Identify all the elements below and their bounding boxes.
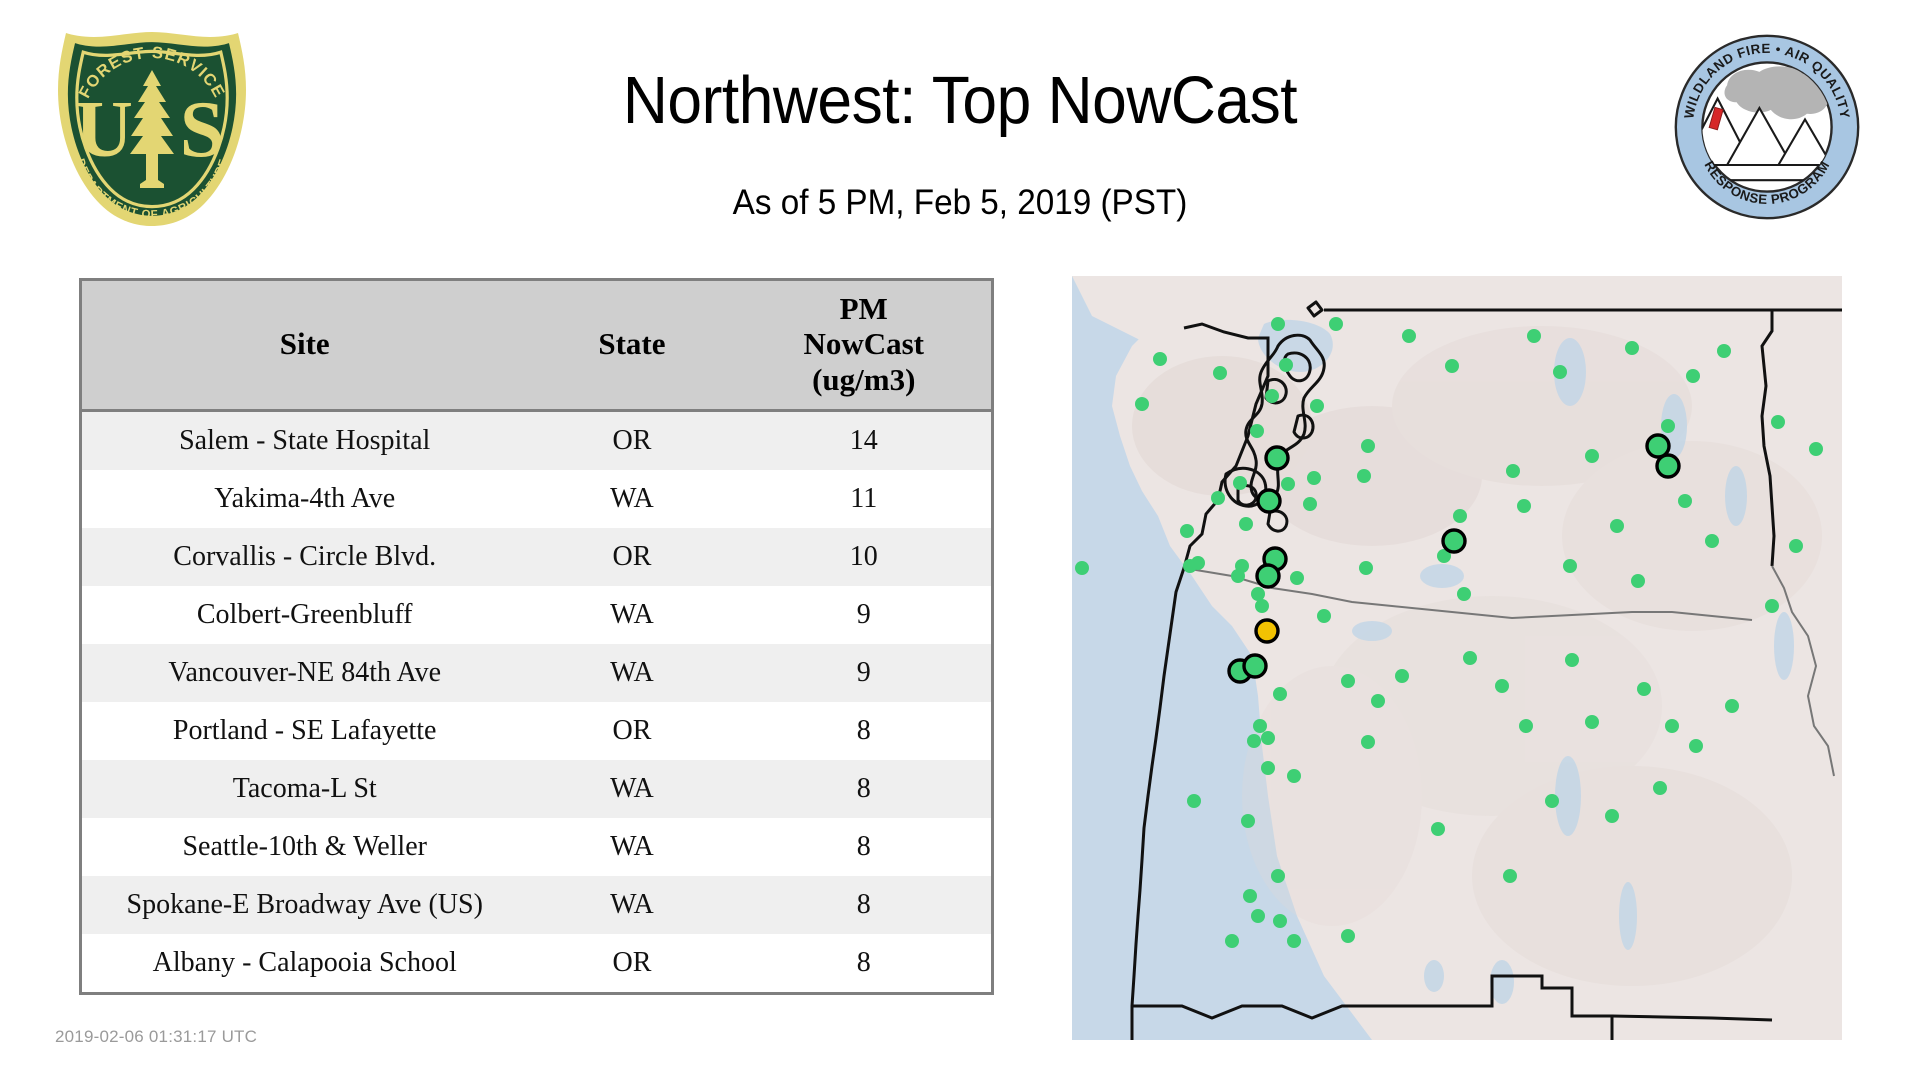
map-marker-monitor[interactable] — [1809, 442, 1823, 456]
pacific-northwest-monitor-map[interactable] — [1072, 276, 1842, 1040]
map-marker-monitor[interactable] — [1519, 719, 1533, 733]
map-marker-monitor[interactable] — [1765, 599, 1779, 613]
map-marker-monitor[interactable] — [1135, 397, 1149, 411]
table-row[interactable]: Seattle-10th & WellerWA8 — [82, 818, 991, 876]
map-marker-monitor[interactable] — [1457, 587, 1471, 601]
map-marker-monitor[interactable] — [1225, 934, 1239, 948]
table-cell-site: Tacoma-L St — [82, 760, 527, 818]
map-marker-monitor[interactable] — [1341, 674, 1355, 688]
map-marker-monitor[interactable] — [1153, 352, 1167, 366]
table-cell-pm-nowcast: 8 — [736, 876, 991, 934]
map-marker-monitor[interactable] — [1251, 587, 1265, 601]
map-marker-monitor[interactable] — [1279, 358, 1293, 372]
table-cell-site: Albany - Calapooia School — [82, 934, 527, 992]
map-marker-monitor[interactable] — [1527, 329, 1541, 343]
map-marker-monitor[interactable] — [1661, 419, 1675, 433]
table-cell-site: Seattle-10th & Weller — [82, 818, 527, 876]
table-cell-state: WA — [527, 876, 736, 934]
map-marker-monitor[interactable] — [1705, 534, 1719, 548]
map-marker-monitor[interactable] — [1271, 317, 1285, 331]
map-marker-monitor[interactable] — [1637, 682, 1651, 696]
table-cell-state: WA — [527, 760, 736, 818]
table-row[interactable]: Corvallis - Circle Blvd.OR10 — [82, 528, 991, 586]
map-marker-monitor[interactable] — [1261, 761, 1275, 775]
table-cell-site: Vancouver-NE 84th Ave — [82, 644, 527, 702]
table-cell-state: OR — [527, 934, 736, 992]
table-cell-pm-nowcast: 11 — [736, 470, 991, 528]
map-marker-monitor[interactable] — [1361, 735, 1375, 749]
map-marker-monitor[interactable] — [1463, 651, 1477, 665]
map-marker-monitor[interactable] — [1717, 344, 1731, 358]
map-marker-monitor[interactable] — [1233, 476, 1247, 490]
table-cell-site: Salem - State Hospital — [82, 410, 527, 470]
map-marker-monitor[interactable] — [1610, 519, 1624, 533]
map-marker-monitor[interactable] — [1213, 366, 1227, 380]
column-header-pm-line2: NowCast — [803, 326, 924, 361]
map-marker-monitor[interactable] — [1303, 497, 1317, 511]
table-cell-state: WA — [527, 644, 736, 702]
map-marker-monitor[interactable] — [1273, 687, 1287, 701]
map-marker-monitor[interactable] — [1653, 781, 1667, 795]
table-cell-pm-nowcast: 8 — [736, 702, 991, 760]
map-marker-monitor[interactable] — [1395, 669, 1409, 683]
map-marker-monitor[interactable] — [1187, 794, 1201, 808]
map-marker-monitor[interactable] — [1261, 731, 1275, 745]
map-marker-monitor[interactable] — [1445, 359, 1459, 373]
table-row[interactable]: Tacoma-L StWA8 — [82, 760, 991, 818]
map-marker-monitor[interactable] — [1771, 415, 1785, 429]
map-marker-monitor[interactable] — [1191, 556, 1205, 570]
map-marker-monitor[interactable] — [1243, 889, 1257, 903]
map-marker-monitor[interactable] — [1371, 694, 1385, 708]
map-marker-top-site[interactable] — [1256, 620, 1278, 642]
column-header-site[interactable]: Site — [82, 281, 527, 410]
map-marker-monitor[interactable] — [1625, 341, 1639, 355]
map-marker-monitor[interactable] — [1789, 539, 1803, 553]
table-cell-state: OR — [527, 528, 736, 586]
table-cell-site: Corvallis - Circle Blvd. — [82, 528, 527, 586]
map-marker-monitor[interactable] — [1310, 399, 1324, 413]
table-row[interactable]: Colbert-GreenbluffWA9 — [82, 586, 991, 644]
map-marker-monitor[interactable] — [1329, 317, 1343, 331]
table-cell-state: OR — [527, 410, 736, 470]
map-marker-monitor[interactable] — [1402, 329, 1416, 343]
map-marker-monitor[interactable] — [1273, 914, 1287, 928]
map-marker-top-site[interactable] — [1266, 447, 1288, 469]
top-nowcast-table: Site State PM NowCast (ug/m3) Salem - St… — [79, 278, 994, 995]
map-marker-monitor[interactable] — [1287, 769, 1301, 783]
map-marker-monitor[interactable] — [1075, 561, 1089, 575]
map-marker-monitor[interactable] — [1503, 869, 1517, 883]
map-marker-monitor[interactable] — [1506, 464, 1520, 478]
map-marker-monitor[interactable] — [1359, 561, 1373, 575]
map-marker-monitor[interactable] — [1251, 909, 1265, 923]
map-marker-monitor[interactable] — [1265, 389, 1279, 403]
map-marker-monitor[interactable] — [1495, 679, 1509, 693]
column-header-pm-line3: (ug/m3) — [812, 362, 915, 397]
map-marker-top-site[interactable] — [1244, 655, 1266, 677]
table-row[interactable]: Spokane-E Broadway Ave (US)WA8 — [82, 876, 991, 934]
map-marker-monitor[interactable] — [1585, 449, 1599, 463]
map-marker-monitor[interactable] — [1605, 809, 1619, 823]
map-marker-monitor[interactable] — [1255, 599, 1269, 613]
map-marker-monitor[interactable] — [1517, 499, 1531, 513]
map-marker-monitor[interactable] — [1307, 471, 1321, 485]
map-marker-monitor[interactable] — [1725, 699, 1739, 713]
table-cell-site: Yakima-4th Ave — [82, 470, 527, 528]
page-title: Northwest: Top NowCast — [67, 62, 1853, 139]
map-marker-monitor[interactable] — [1287, 934, 1301, 948]
map-marker-monitor[interactable] — [1553, 365, 1567, 379]
map-marker-monitor[interactable] — [1686, 369, 1700, 383]
map-marker-monitor[interactable] — [1317, 609, 1331, 623]
column-header-pm-line1: PM — [840, 291, 888, 326]
table-cell-site: Colbert-Greenbluff — [82, 586, 527, 644]
table-cell-pm-nowcast: 14 — [736, 410, 991, 470]
map-marker-monitor[interactable] — [1281, 477, 1295, 491]
map-marker-monitor[interactable] — [1341, 929, 1355, 943]
map-marker-monitor[interactable] — [1678, 494, 1692, 508]
map-marker-monitor[interactable] — [1585, 715, 1599, 729]
table-cell-state: WA — [527, 470, 736, 528]
map-marker-monitor[interactable] — [1180, 524, 1194, 538]
map-marker-monitor[interactable] — [1453, 509, 1467, 523]
map-marker-monitor[interactable] — [1231, 569, 1245, 583]
map-marker-monitor[interactable] — [1361, 439, 1375, 453]
table-header-row: Site State PM NowCast (ug/m3) — [82, 281, 991, 410]
table-cell-pm-nowcast: 9 — [736, 644, 991, 702]
map-marker-top-site[interactable] — [1258, 490, 1280, 512]
map-marker-monitor[interactable] — [1631, 574, 1645, 588]
table-cell-site: Portland - SE Lafayette — [82, 702, 527, 760]
table-cell-state: OR — [527, 702, 736, 760]
map-marker-top-site[interactable] — [1257, 565, 1279, 587]
table-cell-state: WA — [527, 818, 736, 876]
map-marker-top-site[interactable] — [1443, 530, 1465, 552]
table-cell-pm-nowcast: 8 — [736, 818, 991, 876]
map-marker-monitor[interactable] — [1689, 739, 1703, 753]
table-row[interactable]: Salem - State HospitalOR14 — [82, 410, 991, 470]
map-marker-monitor[interactable] — [1290, 571, 1304, 585]
table-row[interactable]: Vancouver-NE 84th AveWA9 — [82, 644, 991, 702]
map-marker-monitor[interactable] — [1253, 719, 1267, 733]
table-row[interactable]: Portland - SE LafayetteOR8 — [82, 702, 991, 760]
map-marker-monitor[interactable] — [1250, 424, 1264, 438]
map-marker-monitor[interactable] — [1565, 653, 1579, 667]
column-header-state[interactable]: State — [527, 281, 736, 410]
table-cell-pm-nowcast: 8 — [736, 760, 991, 818]
table-cell-pm-nowcast: 8 — [736, 934, 991, 992]
map-marker-monitor[interactable] — [1271, 869, 1285, 883]
footer-timestamp: 2019-02-06 01:31:17 UTC — [55, 1027, 257, 1047]
map-marker-monitor[interactable] — [1563, 559, 1577, 573]
table-cell-pm-nowcast: 9 — [736, 586, 991, 644]
map-marker-monitor[interactable] — [1665, 719, 1679, 733]
table-row[interactable]: Yakima-4th AveWA11 — [82, 470, 991, 528]
map-marker-monitor[interactable] — [1247, 734, 1261, 748]
map-marker-monitor[interactable] — [1241, 814, 1255, 828]
table-row[interactable]: Albany - Calapooia SchoolOR8 — [82, 934, 991, 992]
map-marker-monitor[interactable] — [1545, 794, 1559, 808]
map-marker-monitor[interactable] — [1357, 469, 1371, 483]
map-marker-monitor[interactable] — [1431, 822, 1445, 836]
map-marker-monitor[interactable] — [1211, 491, 1225, 505]
map-marker-monitor[interactable] — [1239, 517, 1253, 531]
column-header-pm-nowcast[interactable]: PM NowCast (ug/m3) — [736, 281, 991, 410]
table-cell-pm-nowcast: 10 — [736, 528, 991, 586]
table-cell-state: WA — [527, 586, 736, 644]
table-cell-site: Spokane-E Broadway Ave (US) — [82, 876, 527, 934]
map-marker-top-site[interactable] — [1657, 455, 1679, 477]
page-subtitle: As of 5 PM, Feb 5, 2019 (PST) — [48, 183, 1872, 223]
